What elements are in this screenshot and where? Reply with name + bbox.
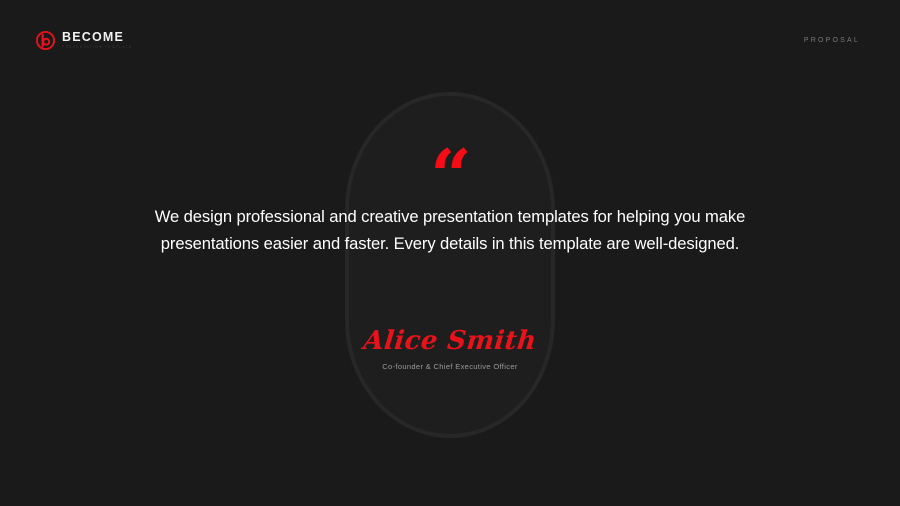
quote-block: “ We design professional and creative pr… — [0, 0, 900, 506]
quote-mark-icon: “ — [0, 140, 900, 212]
slide-canvas: BECOME PRESENTATION TEMPLATE PROPOSAL “ … — [0, 0, 900, 506]
author-signature: Alice Smith — [0, 325, 900, 358]
author-role: Co-founder & Chief Executive Officer — [0, 362, 900, 371]
quote-text: We design professional and creative pres… — [140, 203, 760, 257]
